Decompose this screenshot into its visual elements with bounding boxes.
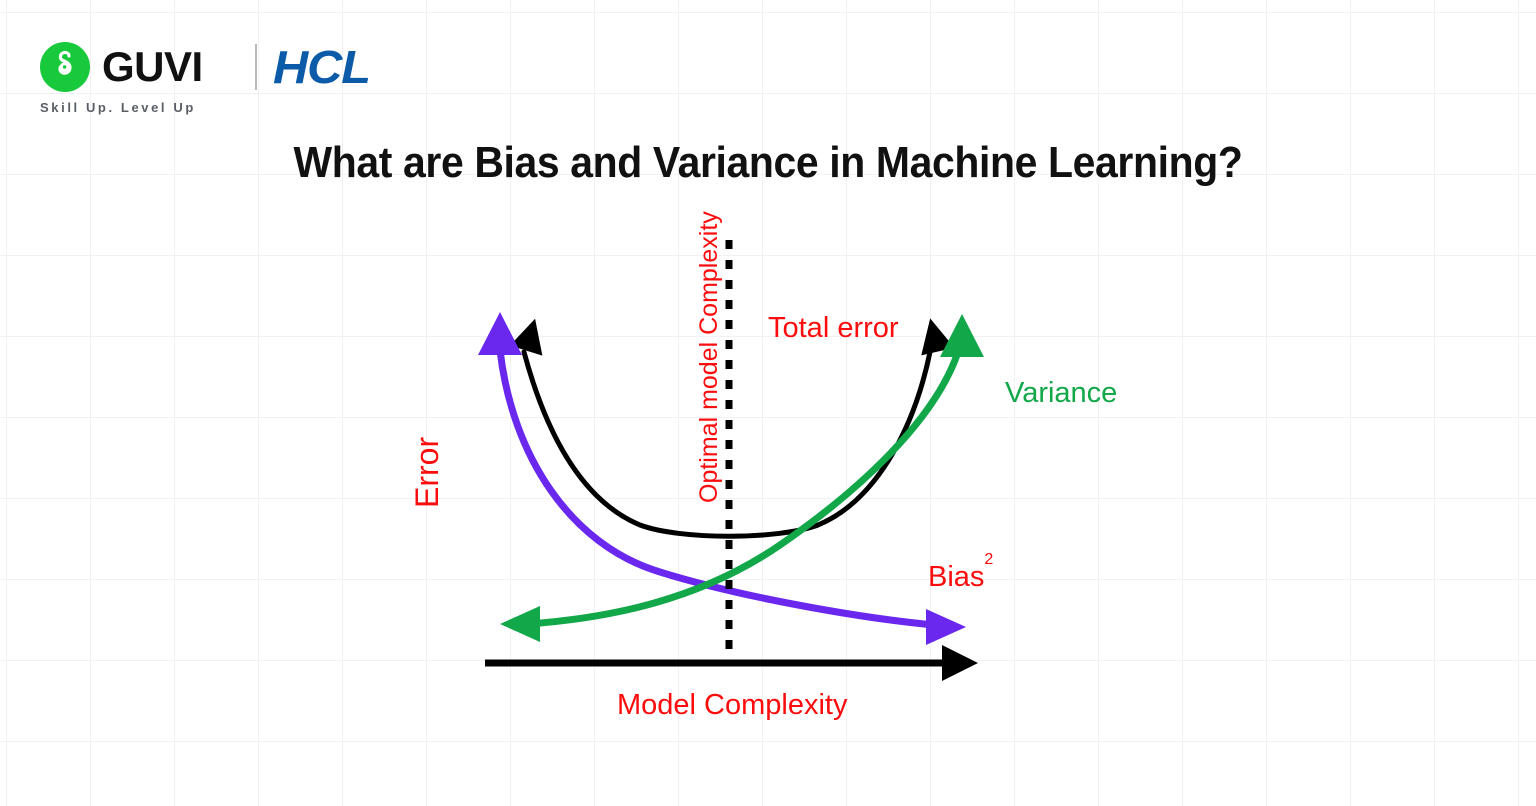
y-axis-label: Error [409, 437, 446, 508]
optimal-complexity-label: Optimal model Complexity [695, 211, 724, 503]
x-axis [485, 645, 978, 681]
bias-variance-chart [0, 0, 1536, 806]
variance-label: Variance [1005, 377, 1117, 410]
total-error-label: Total error [768, 312, 899, 345]
bias-label-text: Bias [928, 561, 984, 593]
bias-label-exponent: 2 [984, 551, 993, 568]
x-axis-label: Model Complexity [617, 689, 847, 722]
bias-squared-label: Bias2 [928, 561, 993, 594]
